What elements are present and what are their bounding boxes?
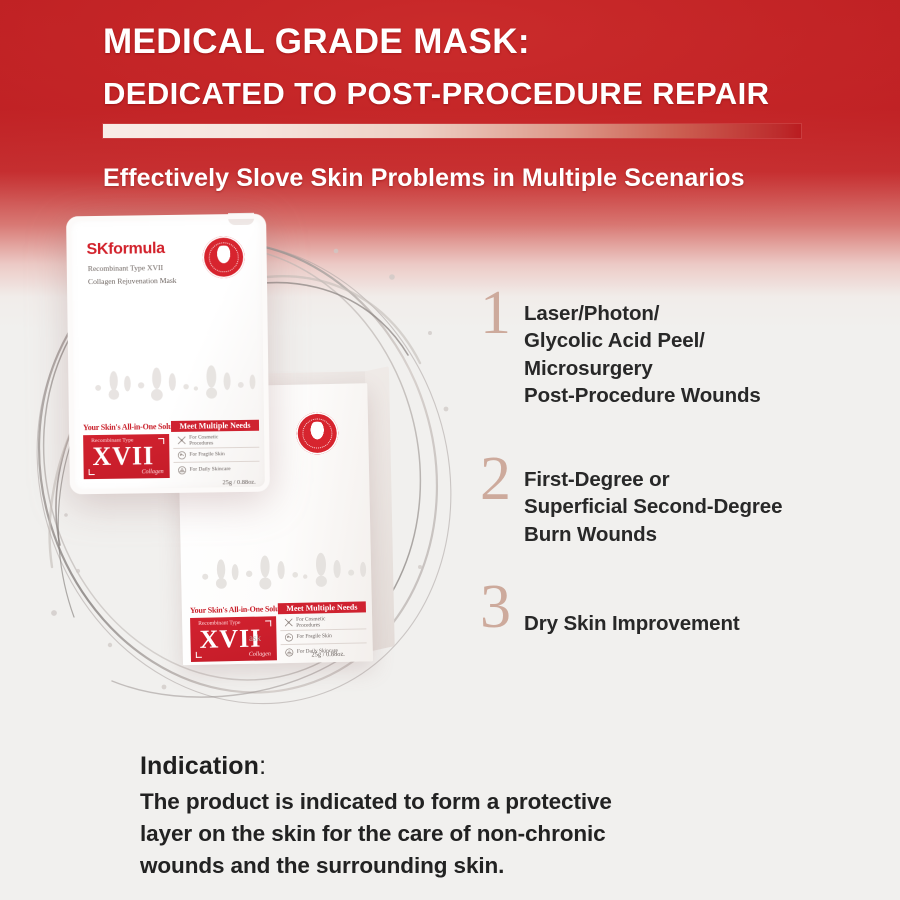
- benefit-line: Laser/Photon/: [524, 300, 761, 327]
- benefit-line: Post-Procedure Wounds: [524, 382, 761, 409]
- collagen-label: Collagen: [142, 469, 164, 475]
- brand-name: SKformula: [86, 240, 164, 259]
- certification-seal-icon: [296, 412, 339, 455]
- benefit-number: 1: [480, 288, 524, 339]
- needs-tag: Meet Multiple Needs: [171, 420, 259, 432]
- benefit-list: 1 Laser/Photon/ Glycolic Acid Peel/ Micr…: [480, 290, 900, 637]
- roman-numeral-xvii: XVII: [92, 443, 154, 470]
- feature-list: For Cosmetic Procedures For F: [173, 433, 260, 478]
- indication-line: The product is indicated to form a prote…: [140, 786, 860, 818]
- fragile-skin-icon: [173, 450, 189, 461]
- corner-bracket-tr: [265, 620, 271, 626]
- daily-skincare-icon: [281, 647, 297, 658]
- cosmetic-procedure-icon: [173, 435, 189, 446]
- benefit-text: Laser/Photon/ Glycolic Acid Peel/ Micros…: [524, 298, 761, 409]
- product-sachet: SKformula Recombinant Type XVII Collagen…: [66, 214, 270, 495]
- net-weight-label: 25g / 0.88oz.: [222, 479, 255, 486]
- brand-subtitle-line2: Collagen Rejuvenation Mask: [88, 276, 177, 286]
- net-weight-label: 25g / 0.88oz.: [311, 651, 345, 659]
- indication-heading-text: Indication: [140, 752, 259, 780]
- brand-subtitle-line1: Recombinant Type XVII: [88, 263, 163, 273]
- feature-line1: For Daily Skincare: [190, 467, 231, 474]
- benefit-line: Burn Wounds: [524, 521, 782, 548]
- needs-tag: Meet Multiple Needs: [278, 601, 366, 614]
- feature-line1: For Fragile Skin: [189, 452, 224, 458]
- page-title-line2: DEDICATED TO POST-PROCEDURE REPAIR: [103, 76, 769, 112]
- benefit-text: First-Degree or Superficial Second-Degre…: [524, 464, 782, 548]
- solution-tag: Your Skin's All-in-One Solution: [190, 603, 278, 616]
- benefit-text: Dry Skin Improvement: [524, 608, 740, 637]
- box-spine-text: ask: [249, 633, 261, 643]
- benefit-item-3: 3 Dry Skin Improvement: [480, 608, 900, 637]
- benefit-line: First-Degree or: [524, 466, 782, 493]
- benefit-line: Microsurgery: [524, 355, 761, 382]
- benefit-number: 2: [480, 454, 524, 505]
- fragile-skin-icon: [280, 632, 296, 643]
- header: MEDICAL GRADE MASK: DEDICATED TO POST-PR…: [0, 0, 900, 230]
- feature-row: For Fragile Skin: [173, 447, 259, 463]
- solution-tag: Your Skin's All-in-One Solution: [83, 421, 171, 433]
- feature-line2: Procedures: [189, 440, 213, 446]
- dna-molecule-pattern-icon: [84, 362, 257, 406]
- page-title-line1: MEDICAL GRADE MASK:: [103, 22, 530, 62]
- indication-line: layer on the skin for the care of non-ch…: [140, 818, 860, 850]
- promo-page: MEDICAL GRADE MASK: DEDICATED TO POST-PR…: [0, 0, 900, 900]
- indication-line: wounds and the surrounding skin.: [140, 850, 860, 882]
- corner-bracket-tr: [158, 438, 164, 444]
- feature-text: For Cosmetic Procedures: [296, 616, 325, 629]
- page-subtitle: Effectively Slove Skin Problems in Multi…: [103, 164, 745, 193]
- benefit-number: 3: [480, 582, 524, 633]
- feature-text: For Cosmetic Procedures: [189, 434, 218, 447]
- indication-heading: Indication:: [140, 752, 860, 781]
- header-divider: [103, 124, 801, 138]
- collagen-label: Collagen: [249, 651, 271, 657]
- sachet-label: Your Skin's All-in-One Solution Meet Mul…: [83, 420, 260, 480]
- indication-block: Indication: The product is indicated to …: [140, 752, 860, 882]
- benefit-line: Dry Skin Improvement: [524, 610, 740, 637]
- feature-row: For Daily Skincare: [174, 462, 260, 478]
- product-cluster: Your Skin's All-in-One Solution Meet Mul…: [0, 215, 470, 715]
- sachet-face: SKformula Recombinant Type XVII Collagen…: [66, 214, 270, 495]
- benefit-line: Glycolic Acid Peel/: [524, 327, 761, 354]
- feature-text: For Fragile Skin: [189, 452, 224, 459]
- xvii-badge: Recombinant Type XVII Collagen: [83, 434, 170, 479]
- feature-text: For Daily Skincare: [190, 467, 231, 474]
- feature-row: For Cosmetic Procedures: [173, 433, 259, 449]
- feature-line1: For Fragile Skin: [296, 633, 331, 640]
- indication-body: The product is indicated to form a prote…: [140, 786, 860, 882]
- xvii-badge: Recombinant Type XVII Collagen: [190, 616, 277, 662]
- benefit-item-1: 1 Laser/Photon/ Glycolic Acid Peel/ Micr…: [480, 298, 900, 409]
- feature-line2: Procedures: [296, 622, 320, 629]
- benefit-item-2: 2 First-Degree or Superficial Second-Deg…: [480, 464, 900, 548]
- daily-skincare-icon: [174, 465, 190, 476]
- feature-text: For Fragile Skin: [296, 633, 331, 640]
- dna-molecule-pattern-icon: [191, 549, 368, 595]
- corner-bracket-bl: [196, 652, 202, 658]
- indication-colon: :: [259, 752, 266, 780]
- corner-bracket-bl: [89, 469, 95, 475]
- cosmetic-procedure-icon: [280, 617, 296, 628]
- benefit-line: Superficial Second-Degree: [524, 493, 782, 520]
- certification-seal-icon: [202, 236, 245, 279]
